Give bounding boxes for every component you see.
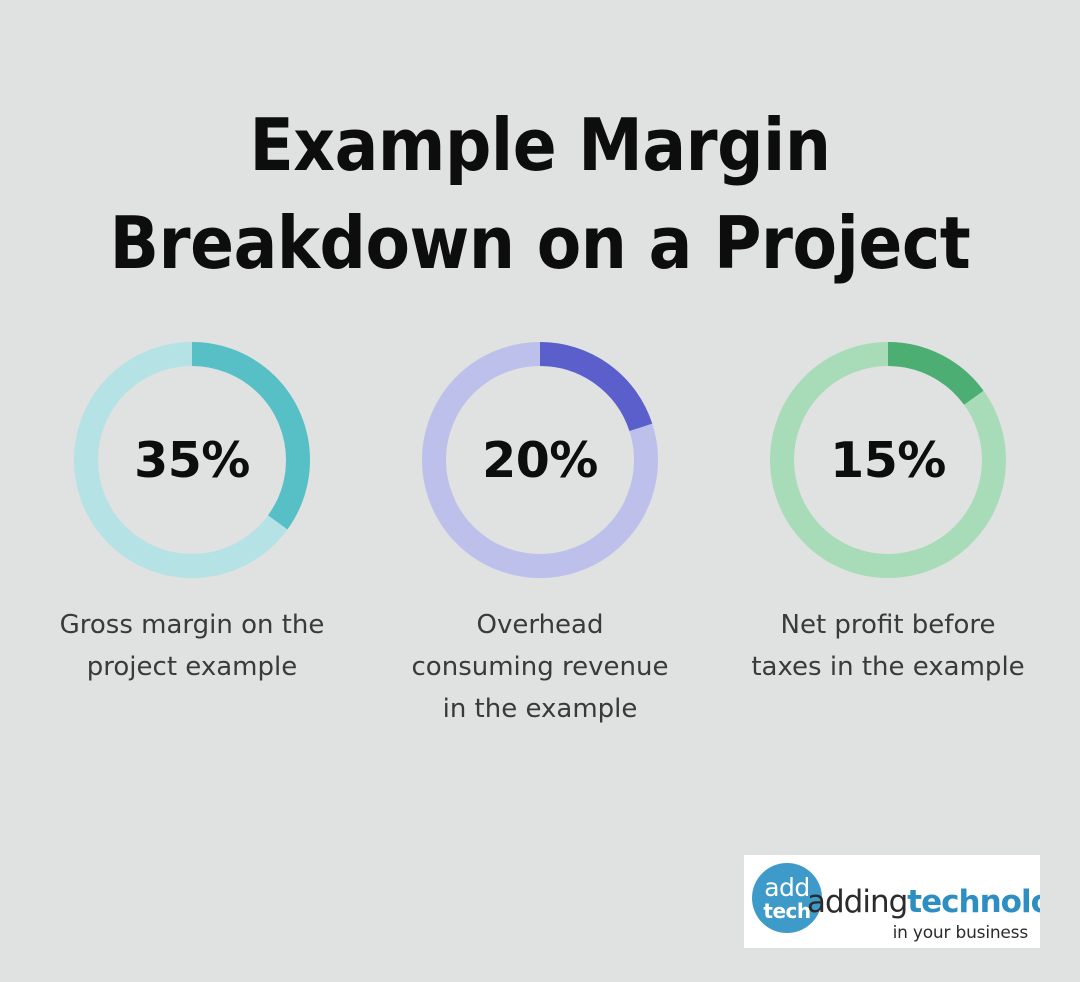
donut-caption-line-3: in the example bbox=[375, 688, 705, 730]
donut-caption: Overhead consuming revenue in the exampl… bbox=[375, 604, 705, 730]
donut-caption: Gross margin on the project example bbox=[27, 604, 357, 688]
page-title-line-2: Breakdown on a Project bbox=[54, 194, 1026, 292]
addtech-mark-add-text: add bbox=[764, 875, 810, 900]
donut-caption-line-2: taxes in the example bbox=[723, 646, 1053, 688]
brand-wordmark: addingtechnology· bbox=[807, 887, 1040, 918]
donut-chart-overhead: 20% Overhead consuming revenue in the ex… bbox=[366, 340, 714, 730]
donut-chart-gross-margin: 35% Gross margin on the project example bbox=[18, 340, 366, 688]
brand-wordmark-technology: technology bbox=[907, 884, 1040, 920]
donut-caption-line-1: Gross margin on the bbox=[27, 604, 357, 646]
donut-gauge: 35% bbox=[72, 340, 312, 580]
addtech-mark-tech-text: tech bbox=[763, 901, 810, 921]
donut-caption-line-2: project example bbox=[27, 646, 357, 688]
donut-value-label: 35% bbox=[72, 340, 312, 580]
infographic-canvas: Example Margin Breakdown on a Project 35… bbox=[0, 0, 1080, 982]
donut-caption-line-1: Net profit before bbox=[723, 604, 1053, 646]
page-title: Example Margin Breakdown on a Project bbox=[0, 96, 1080, 292]
donut-value-label: 20% bbox=[420, 340, 660, 580]
brand-tagline: in your business bbox=[893, 923, 1028, 943]
donut-gauge: 15% bbox=[768, 340, 1008, 580]
donut-chart-row: 35% Gross margin on the project example … bbox=[0, 340, 1080, 730]
donut-chart-net-profit: 15% Net profit before taxes in the examp… bbox=[714, 340, 1062, 688]
donut-gauge: 20% bbox=[420, 340, 660, 580]
donut-caption: Net profit before taxes in the example bbox=[723, 604, 1053, 688]
brand-logo: add tech addingtechnology· in your busin… bbox=[744, 855, 1040, 948]
donut-caption-line-1: Overhead bbox=[375, 604, 705, 646]
brand-wordmark-adding: adding bbox=[807, 884, 907, 920]
donut-caption-line-2: consuming revenue bbox=[375, 646, 705, 688]
donut-value-label: 15% bbox=[768, 340, 1008, 580]
brand-logo-inner: add tech addingtechnology· in your busin… bbox=[744, 855, 1040, 948]
page-title-line-1: Example Margin bbox=[54, 96, 1026, 194]
